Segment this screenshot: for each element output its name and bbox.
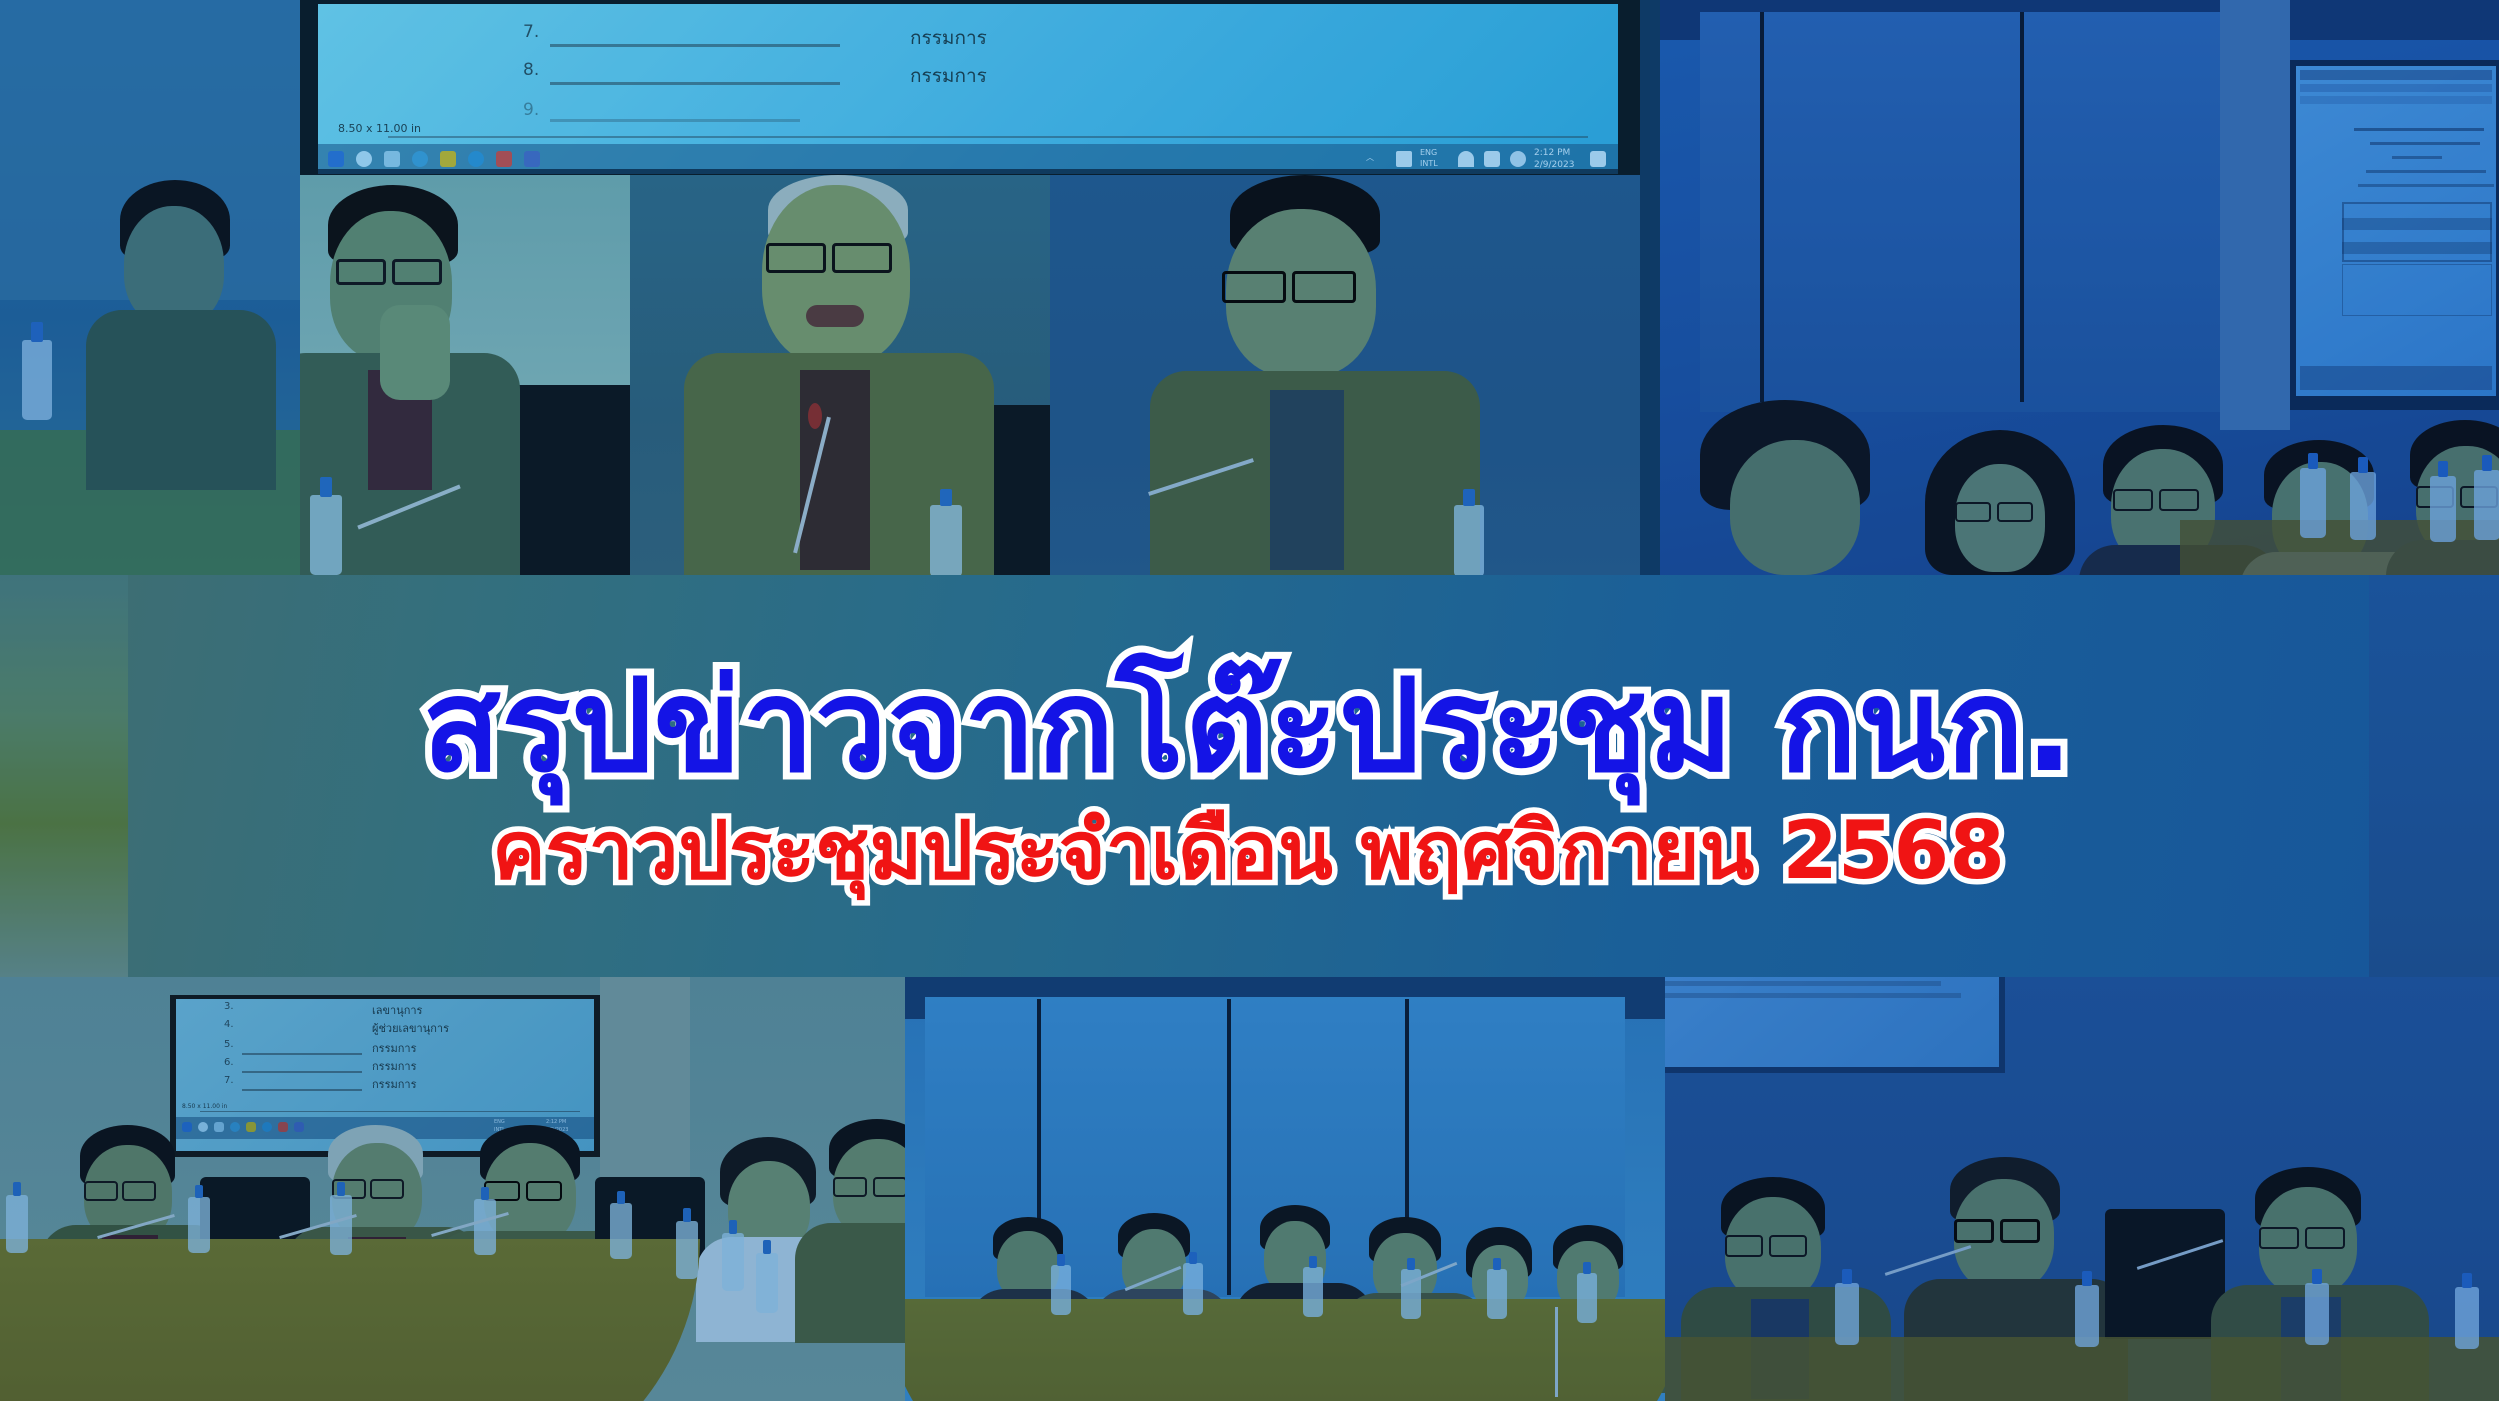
- panel-top-right-attendees: [1660, 0, 2499, 575]
- title-banner: สรุปข่าวจากโต๊ะประชุม กนก. คราวประชุมประ…: [128, 575, 2369, 977]
- panel-member-left: [300, 175, 630, 575]
- panel-left-edge-wall: [0, 575, 128, 977]
- panel-top-left-projection: [0, 0, 300, 575]
- panel-bottom-mid-room: [905, 977, 1665, 1401]
- poster-canvas: 7. กรรมการ 8. กรรมการ 9. 8.50 x 11.00 in: [0, 0, 2499, 1401]
- panel-member-right: [1050, 175, 1640, 575]
- panel-bottom-right-members: [1665, 977, 2499, 1401]
- panel-member-speaker: [630, 175, 1050, 575]
- panel-bottom-left-table: 3. เลขานุการ 4. ผู้ช่วยเลขานุการ 5. กรรม…: [0, 977, 905, 1401]
- banner-subtitle: คราวประชุมประจำเดือน พฤศจิกายน 2568: [492, 805, 2005, 897]
- panel-right-edge-wall: [2369, 575, 2499, 977]
- panel-top-projection-screen: 7. กรรมการ 8. กรรมการ 9. 8.50 x 11.00 in: [300, 0, 1640, 175]
- banner-main-title: สรุปข่าวจากโต๊ะประชุม กนก.: [422, 655, 2074, 798]
